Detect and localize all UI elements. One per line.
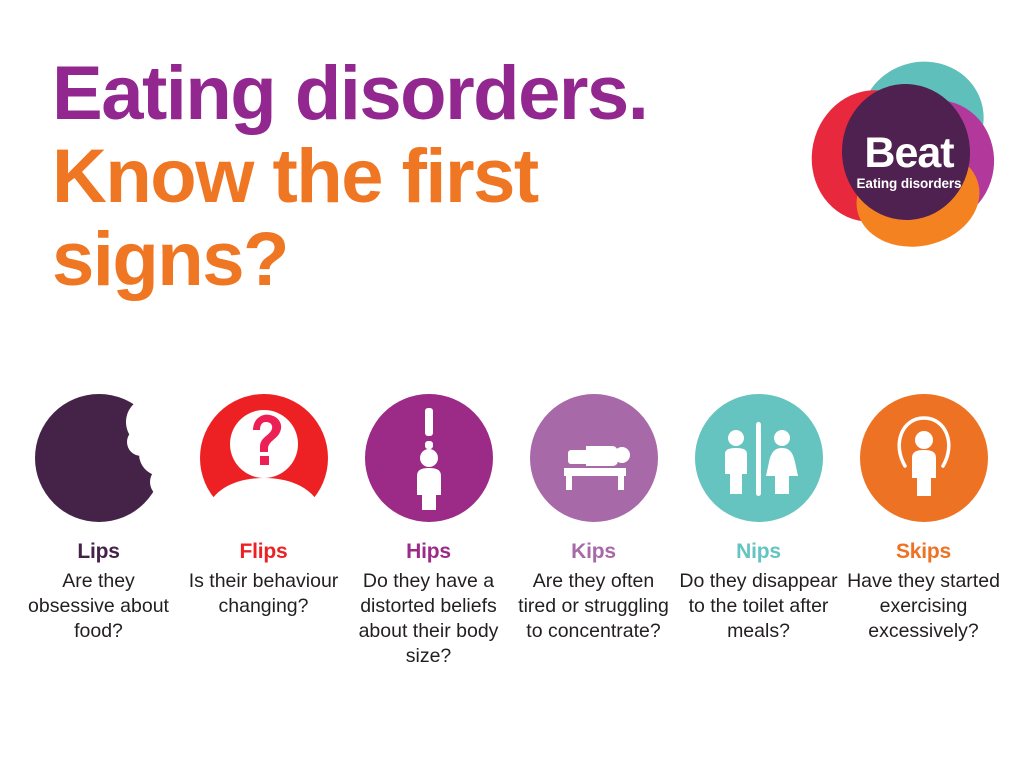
sign-card-nips[interactable]: Nips Do they disappear to the toilet aft…	[676, 392, 841, 644]
sign-desc-lips: Are they obsessive about food?	[19, 569, 179, 644]
sign-title-lips: Lips	[77, 540, 119, 563]
headline-line-2: Know the first	[52, 135, 812, 218]
bitten-circle-icon	[33, 392, 165, 524]
logo-blobs-icon	[806, 52, 1006, 252]
sign-card-kips[interactable]: Kips Are they often tired or struggling …	[511, 392, 676, 644]
skipping-rope-person-icon	[858, 392, 990, 524]
beat-logo[interactable]: Beat Eating disorders	[806, 52, 1006, 252]
sign-desc-nips: Do they disappear to the toilet after me…	[679, 569, 839, 644]
person-exclamation-icon	[363, 392, 495, 524]
sign-title-hips: Hips	[406, 540, 451, 563]
person-lying-on-bed-icon	[528, 392, 660, 524]
sign-title-skips: Skips	[896, 540, 951, 563]
headline-line-1: Eating disorders.	[52, 52, 812, 135]
sign-title-kips: Kips	[571, 540, 616, 563]
page-title: Eating disorders. Know the first signs?	[52, 52, 812, 301]
sign-desc-flips: Is their behaviour changing?	[184, 569, 344, 619]
sign-desc-skips: Have they started exercising excessively…	[844, 569, 1004, 644]
headline-line-3: signs?	[52, 218, 812, 301]
sign-card-skips[interactable]: Skips Have they started exercising exces…	[841, 392, 1006, 644]
header: Eating disorders. Know the first signs? …	[0, 0, 1024, 330]
sign-card-flips[interactable]: Flips Is their behaviour changing?	[181, 392, 346, 619]
sign-card-hips[interactable]: Hips Do they have a distorted beliefs ab…	[346, 392, 511, 669]
sign-title-flips: Flips	[239, 540, 287, 563]
question-mark-person-icon	[198, 392, 330, 524]
signs-row: Lips Are they obsessive about food?	[0, 392, 1024, 768]
sign-desc-hips: Do they have a distorted beliefs about t…	[349, 569, 509, 669]
sign-card-lips[interactable]: Lips Are they obsessive about food?	[16, 392, 181, 644]
sign-desc-kips: Are they often tired or struggling to co…	[514, 569, 674, 644]
sign-title-nips: Nips	[736, 540, 781, 563]
toilet-signs-icon	[693, 392, 825, 524]
